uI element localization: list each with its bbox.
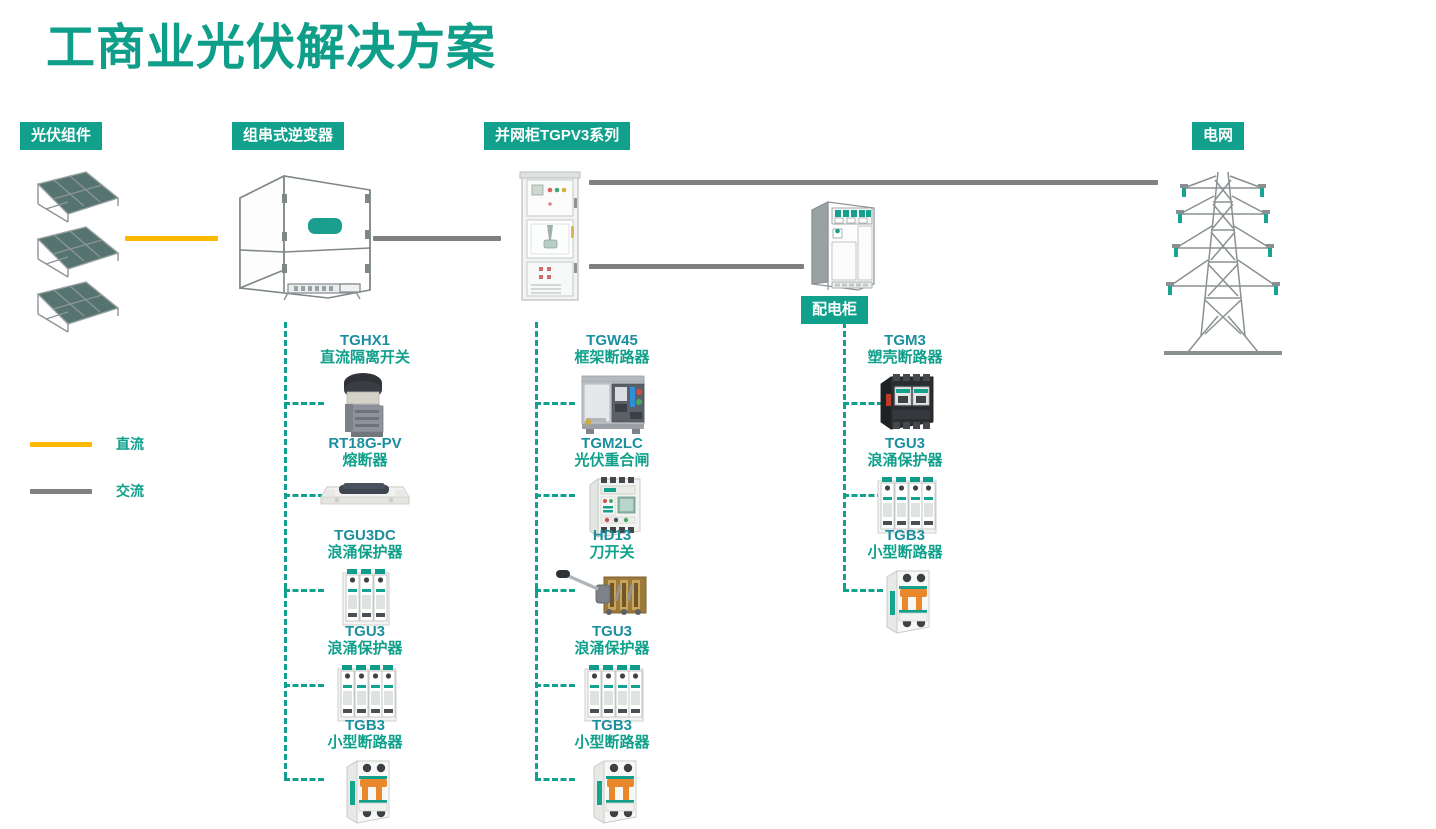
dc-isolator-switch <box>305 370 425 438</box>
product-name: 光伏重合闸 <box>552 452 672 470</box>
miniature-circuit-breaker <box>305 755 425 827</box>
product-tgu3dc: TGU3DC 浪涌保护器 <box>305 527 425 627</box>
product-tgu3-inverter: TGU3 浪涌保护器 <box>305 623 425 723</box>
product-model: TGU3 <box>845 435 965 452</box>
legend-item-dc: 直流 <box>30 434 144 454</box>
badge-power-grid: 电网 <box>1192 122 1244 150</box>
product-rt18g-pv: RT18G-PV 熔断器 <box>305 435 425 513</box>
ac-flow-line-cabinet-to-grid <box>589 180 1158 185</box>
product-name: 浪涌保护器 <box>305 544 425 562</box>
distribution-cabinet-icon <box>806 196 878 292</box>
legend-label-dc: 直流 <box>116 434 144 454</box>
product-name: 小型断路器 <box>305 734 425 752</box>
badge-pv-modules: 光伏组件 <box>20 122 102 150</box>
product-model: TGB3 <box>845 527 965 544</box>
product-name: 塑壳断路器 <box>845 349 965 367</box>
product-tgb3-inverter: TGB3 小型断路器 <box>305 717 425 827</box>
surge-protector <box>845 473 965 535</box>
miniature-circuit-breaker <box>845 565 965 637</box>
product-model: TGU3 <box>305 623 425 640</box>
string-inverter-icon <box>236 172 376 302</box>
badge-distribution-cabinet: 配电柜 <box>801 296 868 324</box>
product-name: 熔断器 <box>305 452 425 470</box>
product-model: TGB3 <box>305 717 425 734</box>
badge-string-inverter: 组串式逆变器 <box>232 122 344 150</box>
product-name: 小型断路器 <box>552 734 672 752</box>
product-name: 直流隔离开关 <box>305 349 425 367</box>
badge-grid-cabinet: 并网柜TGPV3系列 <box>484 122 630 150</box>
grid-connection-cabinet-icon <box>519 168 581 302</box>
product-model: TGU3 <box>552 623 672 640</box>
product-model: TGM3 <box>845 332 965 349</box>
product-tgm3: TGM3 塑壳断路器 <box>845 332 965 432</box>
product-model: TGHX1 <box>305 332 425 349</box>
product-hd13: HD13 刀开关 <box>552 527 672 623</box>
product-tgb3-grid: TGB3 小型断路器 <box>552 717 672 827</box>
page-title: 工商业光伏解决方案 <box>46 22 496 76</box>
product-model: HD13 <box>552 527 672 544</box>
product-tgu3-grid: TGU3 浪涌保护器 <box>552 623 672 723</box>
surge-protector <box>305 661 425 723</box>
legend-item-ac: 交流 <box>30 481 144 501</box>
dc-flow-line <box>125 236 218 241</box>
surge-protector <box>552 661 672 723</box>
product-name: 小型断路器 <box>845 544 965 562</box>
product-model: TGM2LC <box>552 435 672 452</box>
molded-case-circuit-breaker <box>845 370 965 432</box>
air-circuit-breaker <box>552 370 672 432</box>
product-name: 浪涌保护器 <box>552 640 672 658</box>
product-name: 浪涌保护器 <box>845 452 965 470</box>
fuse-holder <box>305 473 425 513</box>
product-tgu3-distribution: TGU3 浪涌保护器 <box>845 435 965 535</box>
product-model: TGU3DC <box>305 527 425 544</box>
product-name: 刀开关 <box>552 544 672 562</box>
ac-flow-line-inverter-to-cabinet <box>373 236 501 241</box>
solar-panel-array-icon <box>24 168 124 328</box>
product-tghx1: TGHX1 直流隔离开关 <box>305 332 425 438</box>
product-model: TGW45 <box>552 332 672 349</box>
product-model: TGB3 <box>552 717 672 734</box>
miniature-circuit-breaker <box>552 755 672 827</box>
product-tgm2lc: TGM2LC 光伏重合闸 <box>552 435 672 539</box>
knife-switch <box>552 565 672 623</box>
ac-flow-line-cabinet-to-distribution <box>589 264 804 269</box>
product-model: RT18G-PV <box>305 435 425 452</box>
surge-protector-dc <box>305 565 425 627</box>
legend-label-ac: 交流 <box>116 481 144 501</box>
product-tgw45: TGW45 框架断路器 <box>552 332 672 432</box>
product-name: 框架断路器 <box>552 349 672 367</box>
dc-line-swatch <box>30 442 92 447</box>
ac-line-swatch <box>30 489 92 494</box>
transmission-tower-icon <box>1158 166 1288 358</box>
product-name: 浪涌保护器 <box>305 640 425 658</box>
product-tgb3-distribution: TGB3 小型断路器 <box>845 527 965 637</box>
